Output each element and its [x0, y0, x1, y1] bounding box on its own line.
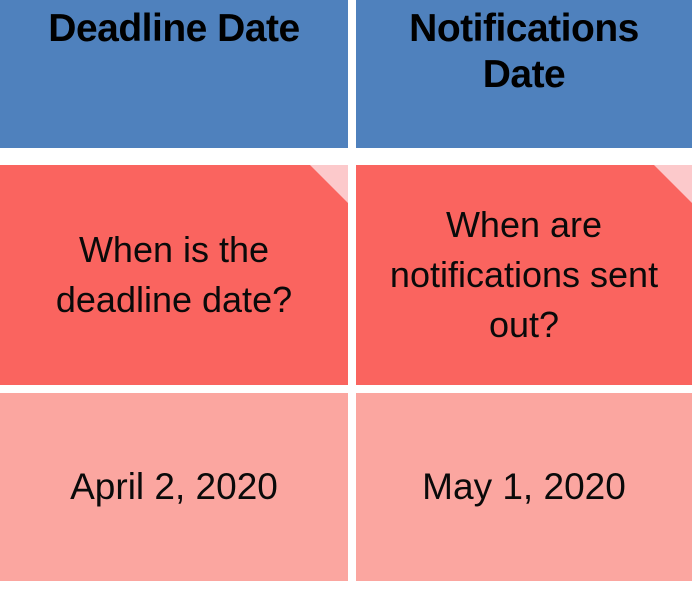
table-grid: Deadline Date Notifications Date When is…	[0, 0, 692, 581]
table-question-cell-notifications-date: When are notifications sent out?	[356, 165, 692, 385]
row-gutter-question-answer-left	[0, 385, 348, 393]
table-answer-text: May 1, 2020	[422, 463, 626, 511]
folded-page-corner-icon	[310, 165, 348, 203]
row-gutter-header-question-center	[348, 148, 356, 165]
table-answer-cell-deadline-date: April 2, 2020	[0, 393, 348, 581]
table-answer-text: April 2, 2020	[70, 463, 278, 511]
table-header-label: Deadline Date	[48, 6, 299, 52]
row-gutter-question-answer-center	[348, 385, 356, 393]
table-header-cell-notifications-date: Notifications Date	[356, 0, 692, 148]
column-gutter-answer	[348, 393, 356, 581]
table-question-text: When is the deadline date?	[14, 225, 334, 324]
table-answer-cell-notifications-date: May 1, 2020	[356, 393, 692, 581]
table-header-label: Notifications Date	[366, 6, 682, 98]
column-gutter-question	[348, 165, 356, 385]
table-header-cell-deadline-date: Deadline Date	[0, 0, 348, 148]
table-question-cell-deadline-date: When is the deadline date?	[0, 165, 348, 385]
table-question-text: When are notifications sent out?	[370, 200, 678, 349]
comparison-table: Deadline Date Notifications Date When is…	[0, 0, 692, 592]
row-gutter-header-question-right	[356, 148, 692, 165]
row-gutter-header-question-left	[0, 148, 348, 165]
folded-page-corner-icon	[654, 165, 692, 203]
column-gutter-header	[348, 0, 356, 148]
row-gutter-question-answer-right	[356, 385, 692, 393]
